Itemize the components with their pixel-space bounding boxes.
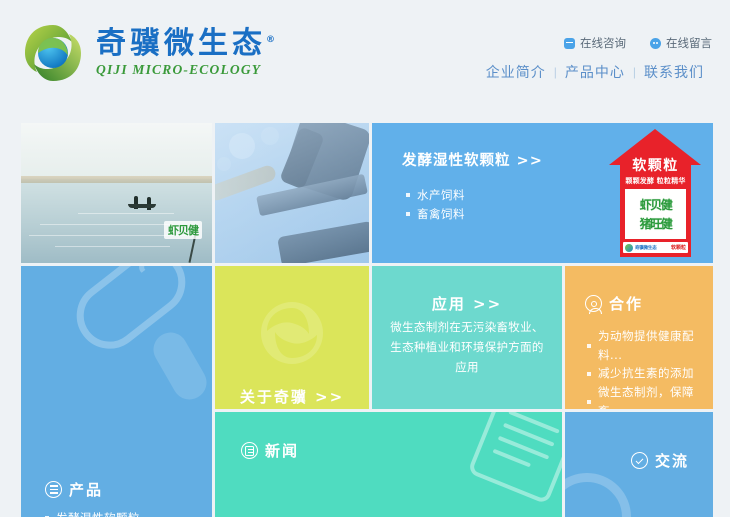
cooperation-title-row: 合作 [585,293,643,314]
community-title-row: 交流 [631,450,689,471]
logo-text: 奇骥微生态® QIJI MICRO-ECOLOGY [96,28,275,78]
site-logo[interactable]: 奇骥微生态® QIJI MICRO-ECOLOGY [22,22,275,84]
chat-bubble-watermark-icon [565,473,631,517]
list-item[interactable]: 为动物提供健康配料... [587,327,713,364]
capsule-small [147,326,212,405]
application-description: 微生态制剂在无污染畜牧业、生态种植业和环境保护方面的应用 [388,318,546,377]
soft-granule-title: 发酵湿性软颗粒 >> [402,149,543,170]
tile-soft-granule[interactable]: 发酵湿性软颗粒 >> 水产饲料 畜禽饲料 软颗粒 颗颗发酵 粒粒精华 虾贝健 猪… [372,123,713,263]
product-title-row: 产品 [45,479,140,500]
list-item[interactable]: 畜禽饲料 [406,205,465,224]
banner-footer-brand: 奇骥微生态 [635,245,657,251]
list-item[interactable]: 减少抗生素的添加 [587,364,713,383]
pond-sky [21,123,212,179]
list-item-label: 水产饲料 [417,186,465,205]
banner-product-card: 虾贝健 猪旺健 [625,189,686,239]
nav-item-products[interactable]: 产品中心 [557,62,633,82]
application-title: 应用 >> [372,293,562,314]
tile-community[interactable]: 交流 [565,412,713,517]
main-nav: 企业简介 | 产品中心 | 联系我们 [478,62,712,82]
news-title: 新闻 [265,440,299,461]
capsule-icon [41,266,212,414]
product-title: 产品 [69,479,103,500]
tile-cooperation[interactable]: 合作 为动物提供健康配料... 减少抗生素的添加 微生态制剂，保障畜... [565,266,713,409]
page-root: 奇骥微生态® QIJI MICRO-ECOLOGY 在线咨询 在线留言 企业简介… [0,0,730,517]
message-icon [650,38,661,49]
logo-watermark-icon [259,300,325,366]
tile-grid: 虾贝健 发酵湿性软颗粒 >> 水产饲料 畜禽饲料 软颗粒 [21,123,713,517]
tile-pond-photo[interactable]: 虾贝健 [21,123,212,263]
nav-item-contact[interactable]: 联系我们 [636,62,712,82]
list-item-label: 为动物提供健康配料... [598,327,713,364]
header-quick-links: 在线咨询 在线留言 [564,35,712,51]
bullet-square-icon [406,193,410,197]
cooperation-list: 为动物提供健康配料... 减少抗生素的添加 微生态制剂，保障畜... [587,327,713,409]
chat-icon [564,38,575,49]
promo-arrow-banner[interactable]: 软颗粒 颗颗发酵 粒粒精华 虾贝健 猪旺健 奇骥微生态 软颗粒 [609,129,702,257]
water-ripple [55,246,170,247]
list-item[interactable]: 水产饲料 [406,186,465,205]
document-watermark-icon [467,412,562,505]
logo-title-cn: 奇骥微生态® [96,28,275,60]
boat [128,204,156,208]
user-icon [585,295,602,312]
list-icon [45,481,62,498]
link-online-consult[interactable]: 在线咨询 [564,35,626,51]
soft-granule-list: 水产饲料 畜禽饲料 [406,186,465,223]
bullet-square-icon [587,400,591,404]
list-item-label: 减少抗生素的添加 [598,364,694,383]
product-content: 产品 发酵湿性软颗粒 水产微生物制剂 微生态原菌粉 [45,479,140,517]
list-item[interactable]: 微生态制剂，保障畜... [587,383,713,409]
list-item-label: 微生态制剂，保障畜... [598,383,713,409]
photo-blue-tint [215,123,369,263]
about-title: 关于奇骥 >> [215,386,369,407]
tile-microscope-photo[interactable] [215,123,369,263]
link-online-consult-label: 在线咨询 [580,35,626,51]
tile-product[interactable]: 产品 发酵湿性软颗粒 水产微生物制剂 微生态原菌粉 [21,266,212,517]
check-circle-icon [631,452,648,469]
bullet-square-icon [587,372,591,376]
cooperation-title: 合作 [609,293,643,314]
list-item[interactable]: 发酵湿性软颗粒 [45,509,140,517]
link-online-message-label: 在线留言 [666,35,712,51]
tile-news[interactable]: 新闻 [215,412,562,517]
banner-slogan: 颗颗发酵 粒粒精华 [609,176,702,186]
tile-application[interactable]: 应用 >> 微生态制剂在无污染畜牧业、生态种植业和环境保护方面的应用 [372,266,562,409]
community-title: 交流 [655,450,689,471]
logo-title-en: QIJI MICRO-ECOLOGY [96,62,275,78]
banner-product-2: 猪旺健 [625,215,686,232]
list-item-label: 发酵湿性软颗粒 [56,509,140,517]
site-header: 奇骥微生态® QIJI MICRO-ECOLOGY 在线咨询 在线留言 企业简介… [0,0,730,110]
product-list: 发酵湿性软颗粒 水产微生物制剂 微生态原菌粉 [45,509,140,517]
news-title-row: 新闻 [241,440,299,461]
registered-mark: ® [266,35,275,45]
banner-product-1: 虾贝健 [625,196,686,213]
banner-footer-tag: 软颗粒 [671,244,686,251]
logo-leaf-icon [22,22,84,84]
banner-footer: 奇骥微生态 软颗粒 [623,242,688,253]
nav-item-company[interactable]: 企业简介 [478,62,554,82]
pond-photo-badge: 虾贝健 [164,221,202,239]
document-icon [241,442,258,459]
water-ripple [40,224,174,225]
link-online-message[interactable]: 在线留言 [650,35,712,51]
water-ripple [78,213,174,214]
banner-title: 软颗粒 [609,155,702,175]
list-item-label: 畜禽饲料 [417,205,465,224]
bullet-square-icon [587,344,591,348]
tile-about[interactable]: 关于奇骥 >> [215,266,369,409]
brand-logo-icon [625,244,633,252]
bullet-square-icon [406,212,410,216]
